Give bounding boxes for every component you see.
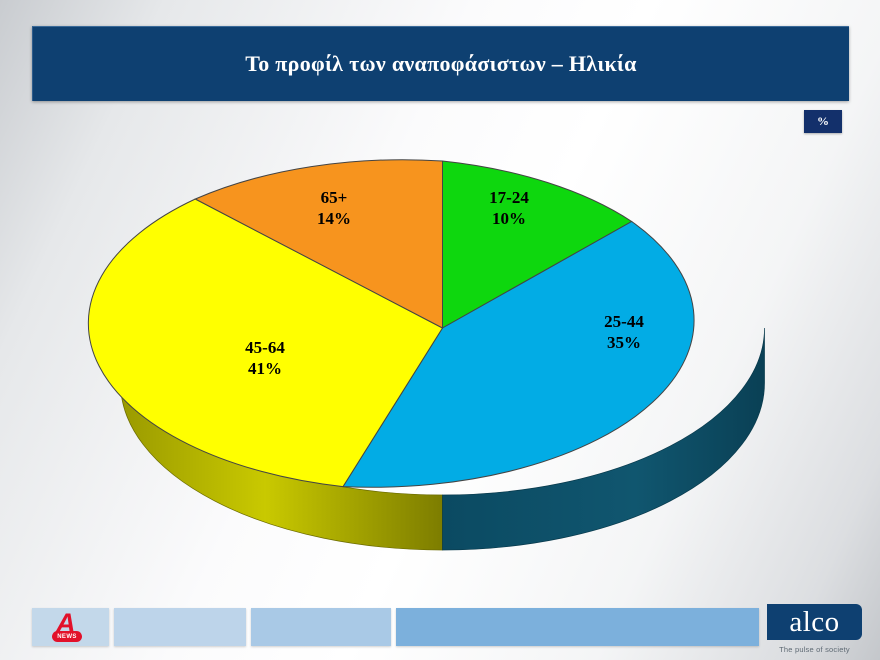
footer-bar-3 <box>251 608 391 646</box>
alpha-news-logo: A NEWS <box>52 610 86 642</box>
pie-label-17-24-name: 17-24 <box>489 188 529 207</box>
footer-bar-4 <box>396 608 759 646</box>
pie-chart-svg: 17-24 10% 25-44 35% 45-64 41% 65+ 14% <box>0 120 880 570</box>
slide-root: Το προφίλ των αναποφάσιστων – Ηλικία % <box>0 0 880 660</box>
alco-logo-text: alco <box>789 607 839 637</box>
alco-tagline: The pulse of society <box>767 645 862 654</box>
pie-chart: 17-24 10% 25-44 35% 45-64 41% 65+ 14% <box>0 120 880 570</box>
pie-label-65-plus-value: 14% <box>317 209 351 228</box>
pie-label-65-plus-name: 65+ <box>321 188 348 207</box>
pie-label-25-44-value: 35% <box>607 333 641 352</box>
footer: A NEWS alco The pulse of society <box>0 588 880 660</box>
alpha-logo-word: NEWS <box>52 631 82 642</box>
page-title: Το προφίλ των αναποφάσιστων – Ηλικία <box>245 51 637 77</box>
pie-label-17-24-value: 10% <box>492 209 526 228</box>
title-bar: Το προφίλ των αναποφάσιστων – Ηλικία <box>32 26 849 101</box>
footer-bar-2 <box>114 608 246 646</box>
alco-logo: alco <box>767 604 862 640</box>
pie-label-45-64-value: 41% <box>248 359 282 378</box>
pie-label-45-64-name: 45-64 <box>245 338 285 357</box>
pie-label-25-44-name: 25-44 <box>604 312 644 331</box>
